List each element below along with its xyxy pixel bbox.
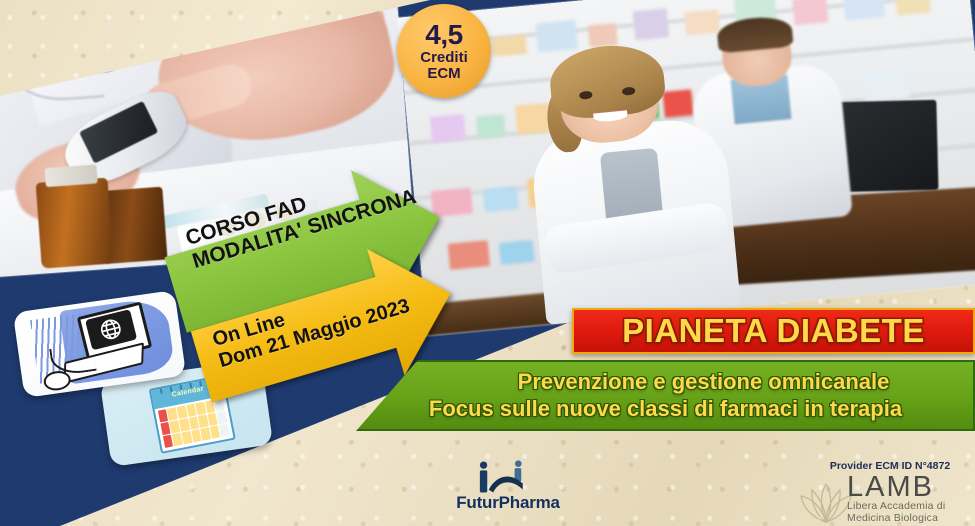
subtitle-line-2: Focus sulle nuove classi di farmaci in t… bbox=[429, 396, 902, 423]
futurpharma-mark-icon bbox=[443, 460, 573, 494]
subtitle-bar: Prevenzione e gestione omnicanale Focus … bbox=[356, 360, 975, 431]
lamb-subtitle-2: Medicina Biologica bbox=[847, 512, 945, 524]
ecm-credits-badge: 4,5 Crediti ECM bbox=[397, 4, 491, 98]
lamb-logo-block: Provider ECM ID N°4872 LAMB Libera Accad… bbox=[795, 460, 975, 526]
futurpharma-name: FuturPharma bbox=[443, 493, 573, 513]
credits-label-2: ECM bbox=[427, 66, 460, 82]
page-title: PIANETA DIABETE bbox=[622, 312, 925, 350]
subtitle-line-1: Prevenzione e gestione omnicanale bbox=[442, 369, 890, 396]
course-poster: 4,5 Crediti ECM CORSO FAD MODALITA' SINC… bbox=[0, 0, 975, 526]
lamb-subtitle-1: Libera Accademia di bbox=[847, 500, 945, 512]
lamb-acronym: LAMB bbox=[847, 474, 945, 501]
credits-number: 4,5 bbox=[425, 20, 462, 49]
futurpharma-logo: FuturPharma bbox=[443, 460, 573, 522]
credits-label-1: Crediti bbox=[420, 50, 468, 66]
main-title-bar: PIANETA DIABETE bbox=[572, 308, 975, 354]
